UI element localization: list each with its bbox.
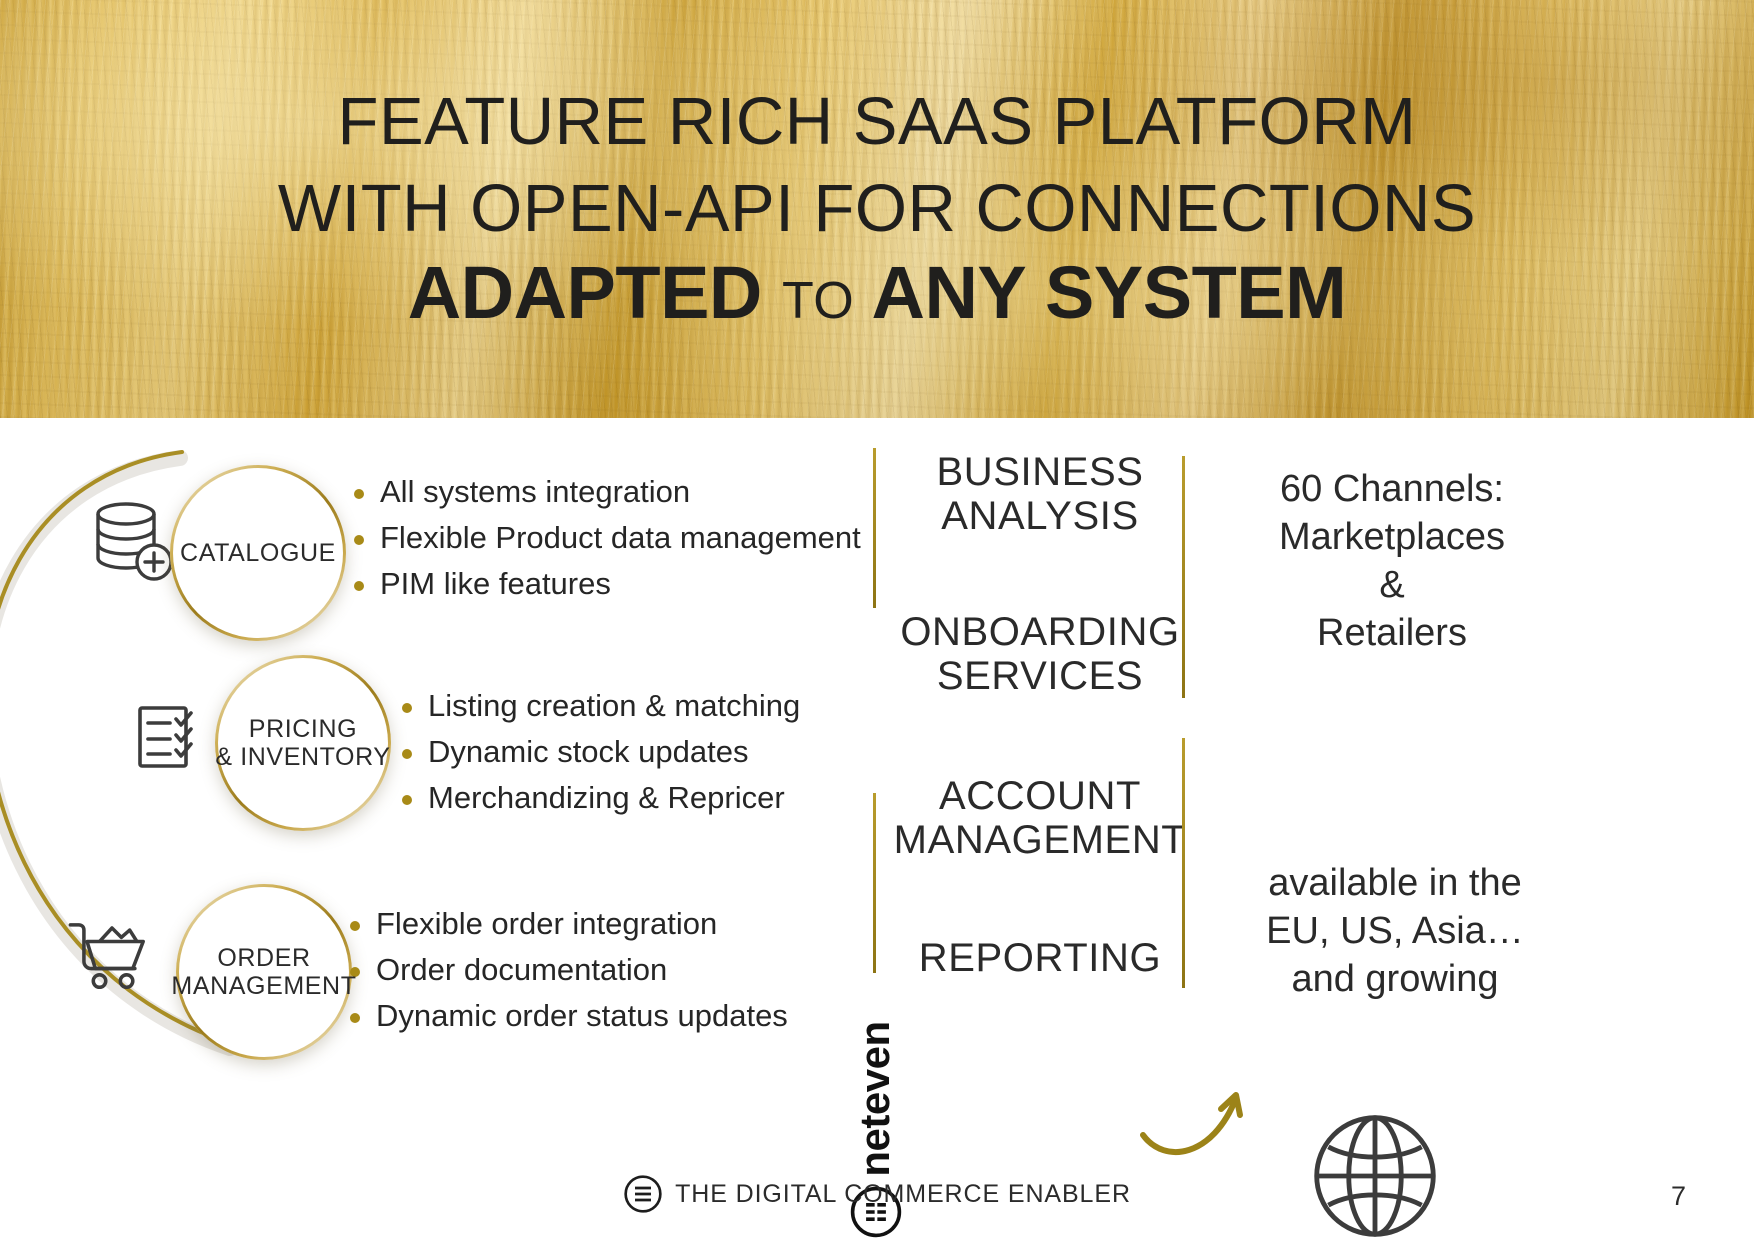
service-line1: ONBOARDING [900, 610, 1179, 654]
bubble-label-line1: ORDER [217, 944, 310, 972]
bubble-pricing-inventory[interactable]: PRICING & INVENTORY [215, 655, 391, 831]
list-item: Dynamic order status updates [348, 1000, 788, 1033]
bubble-order-management[interactable]: ORDER MANAGEMENT [176, 884, 352, 1060]
headline-line-3: ADAPTED TO ANY SYSTEM [0, 256, 1754, 330]
channels-line3: & [1379, 564, 1404, 606]
availability-line2: EU, US, Asia… [1266, 910, 1524, 952]
bubble-label-catalogue: CATALOGUE [180, 539, 336, 567]
headline-line-2: WITH OPEN-API FOR CONNECTIONS [0, 175, 1754, 242]
curved-arrow-icon [1135, 1073, 1265, 1183]
gold-banner-header: FEATURE RICH SAAS PLATFORM WITH OPEN-API… [0, 0, 1754, 418]
availability-line1: available in the [1268, 862, 1522, 904]
bubble-label-line1: PRICING [249, 715, 357, 743]
divider-right-upper [1182, 456, 1185, 698]
list-item: PIM like features [352, 568, 861, 601]
service-line1: BUSINESS [936, 450, 1143, 494]
list-item: All systems integration [352, 476, 861, 509]
service-reporting: REPORTING [890, 936, 1190, 980]
service-line1: REPORTING [919, 936, 1161, 980]
channels-line2: Marketplaces [1279, 516, 1505, 558]
shopping-cart-icon [58, 900, 166, 1008]
service-line2: MANAGEMENT [894, 818, 1187, 862]
list-item: Dynamic stock updates [400, 736, 800, 769]
service-line2: SERVICES [937, 654, 1143, 698]
page-number: 7 [1671, 1181, 1686, 1212]
bubble-label-line1: CATALOGUE [180, 539, 336, 567]
channels-line1: 60 Channels: [1280, 468, 1504, 510]
bubble-label-order-management: ORDER MANAGEMENT [171, 944, 356, 1000]
bubble-label-pricing-inventory: PRICING & INVENTORY [215, 715, 390, 771]
channels-line4: Retailers [1317, 612, 1467, 654]
divider-left-lower [873, 793, 876, 973]
bullet-list-catalogue: All systems integration Flexible Product… [352, 476, 861, 614]
availability-block: available in the EU, US, Asia… and growi… [1215, 860, 1575, 1004]
footer-tagline: THE DIGITAL COMMERCE ENABLER [675, 1180, 1131, 1209]
headline-any-system: ANY SYSTEM [872, 251, 1347, 334]
bubble-label-line2: & INVENTORY [215, 743, 390, 771]
bullet-list-order-management: Flexible order integration Order documen… [348, 908, 788, 1046]
list-item: Flexible order integration [348, 908, 788, 941]
service-account-management: ACCOUNT MANAGEMENT [890, 774, 1190, 862]
headline-to: TO [782, 272, 854, 330]
list-item: Flexible Product data management [352, 522, 861, 555]
bullet-list-pricing-inventory: Listing creation & matching Dynamic stoc… [400, 690, 800, 828]
service-business-analysis: BUSINESS ANALYSIS [905, 450, 1175, 538]
divider-right-lower [1182, 738, 1185, 988]
service-onboarding-services: ONBOARDING SERVICES [890, 610, 1190, 698]
headline-adapted: ADAPTED [408, 251, 762, 334]
divider-left-upper [873, 448, 876, 608]
service-line1: ACCOUNT [939, 774, 1141, 818]
slide-body: CATALOGUE All systems integration Flexib… [0, 418, 1754, 1240]
service-line2: ANALYSIS [941, 494, 1138, 538]
list-item: Merchandizing & Repricer [400, 782, 800, 815]
channels-block: 60 Channels: Marketplaces & Retailers [1232, 466, 1552, 658]
neteven-logo-icon [623, 1174, 663, 1214]
bubble-catalogue[interactable]: CATALOGUE [170, 465, 346, 641]
footer: THE DIGITAL COMMERCE ENABLER [0, 1174, 1754, 1214]
bubble-label-line2: MANAGEMENT [171, 972, 356, 1000]
headline-line-1: FEATURE RICH SAAS PLATFORM [0, 88, 1754, 155]
page-title: FEATURE RICH SAAS PLATFORM WITH OPEN-API… [0, 88, 1754, 330]
list-item: Order documentation [348, 954, 788, 987]
list-item: Listing creation & matching [400, 690, 800, 723]
availability-line3: and growing [1291, 958, 1498, 1000]
